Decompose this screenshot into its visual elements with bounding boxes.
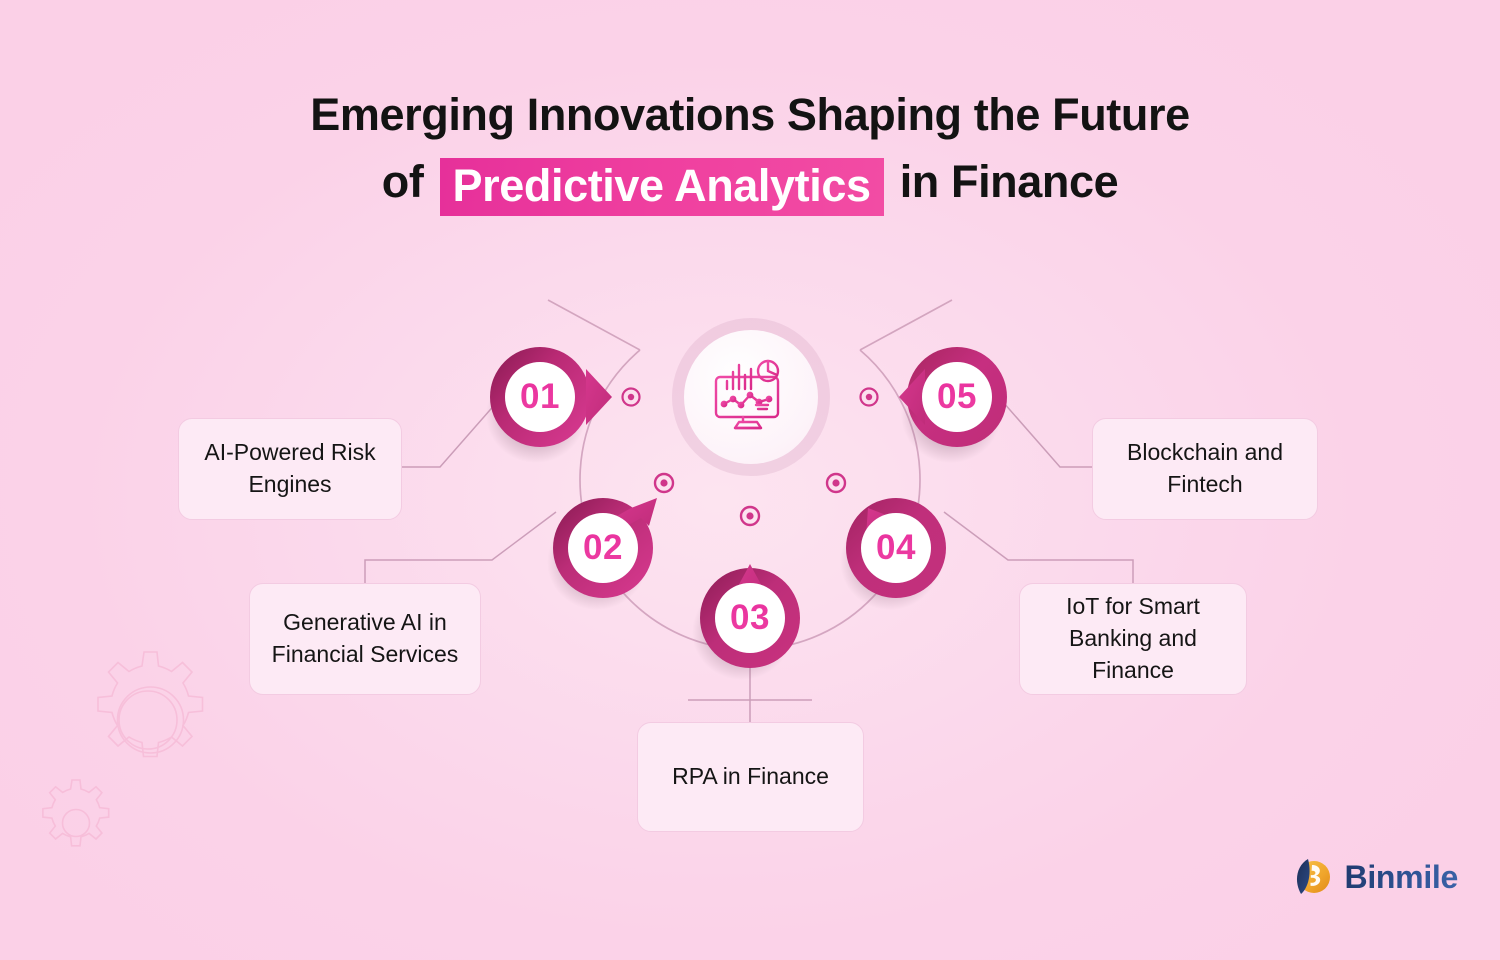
step-ring-02	[545, 486, 661, 602]
center-hub-inner	[684, 330, 818, 464]
step-ring-01	[482, 339, 598, 455]
step-node-02[interactable]: 02	[545, 486, 661, 602]
step-node-01[interactable]: 01	[482, 339, 598, 455]
label-card-generative-ai-in-financial-services[interactable]: Generative AI in Financial Services	[249, 583, 481, 695]
label-card-ai-powered-risk-engines[interactable]: AI-Powered Risk Engines	[178, 418, 402, 520]
label-card-blockchain-and-fintech[interactable]: Blockchain and Fintech	[1092, 418, 1318, 520]
step-node-04[interactable]: 04	[838, 486, 954, 602]
step-node-05[interactable]: 05	[899, 339, 1015, 455]
infographic-canvas: Emerging Innovations Shaping the Future …	[0, 0, 1500, 960]
step-ring-04	[838, 486, 954, 602]
binmile-logo-icon	[1288, 854, 1334, 900]
label-card-rpa-in-finance[interactable]: RPA in Finance	[637, 722, 864, 832]
diagram-container: 01 02	[0, 0, 1500, 960]
brand-name: Binmile	[1345, 859, 1458, 896]
center-hub	[672, 318, 830, 476]
analytics-dashboard-icon	[709, 357, 793, 437]
label-card-iot-for-smart-banking-and-finance[interactable]: IoT for Smart Banking and Finance	[1019, 583, 1247, 695]
step-node-03[interactable]: 03	[692, 546, 808, 662]
step-ring-03	[692, 546, 808, 662]
brand-logo[interactable]: Binmile	[1288, 854, 1458, 900]
step-ring-05	[899, 339, 1015, 455]
